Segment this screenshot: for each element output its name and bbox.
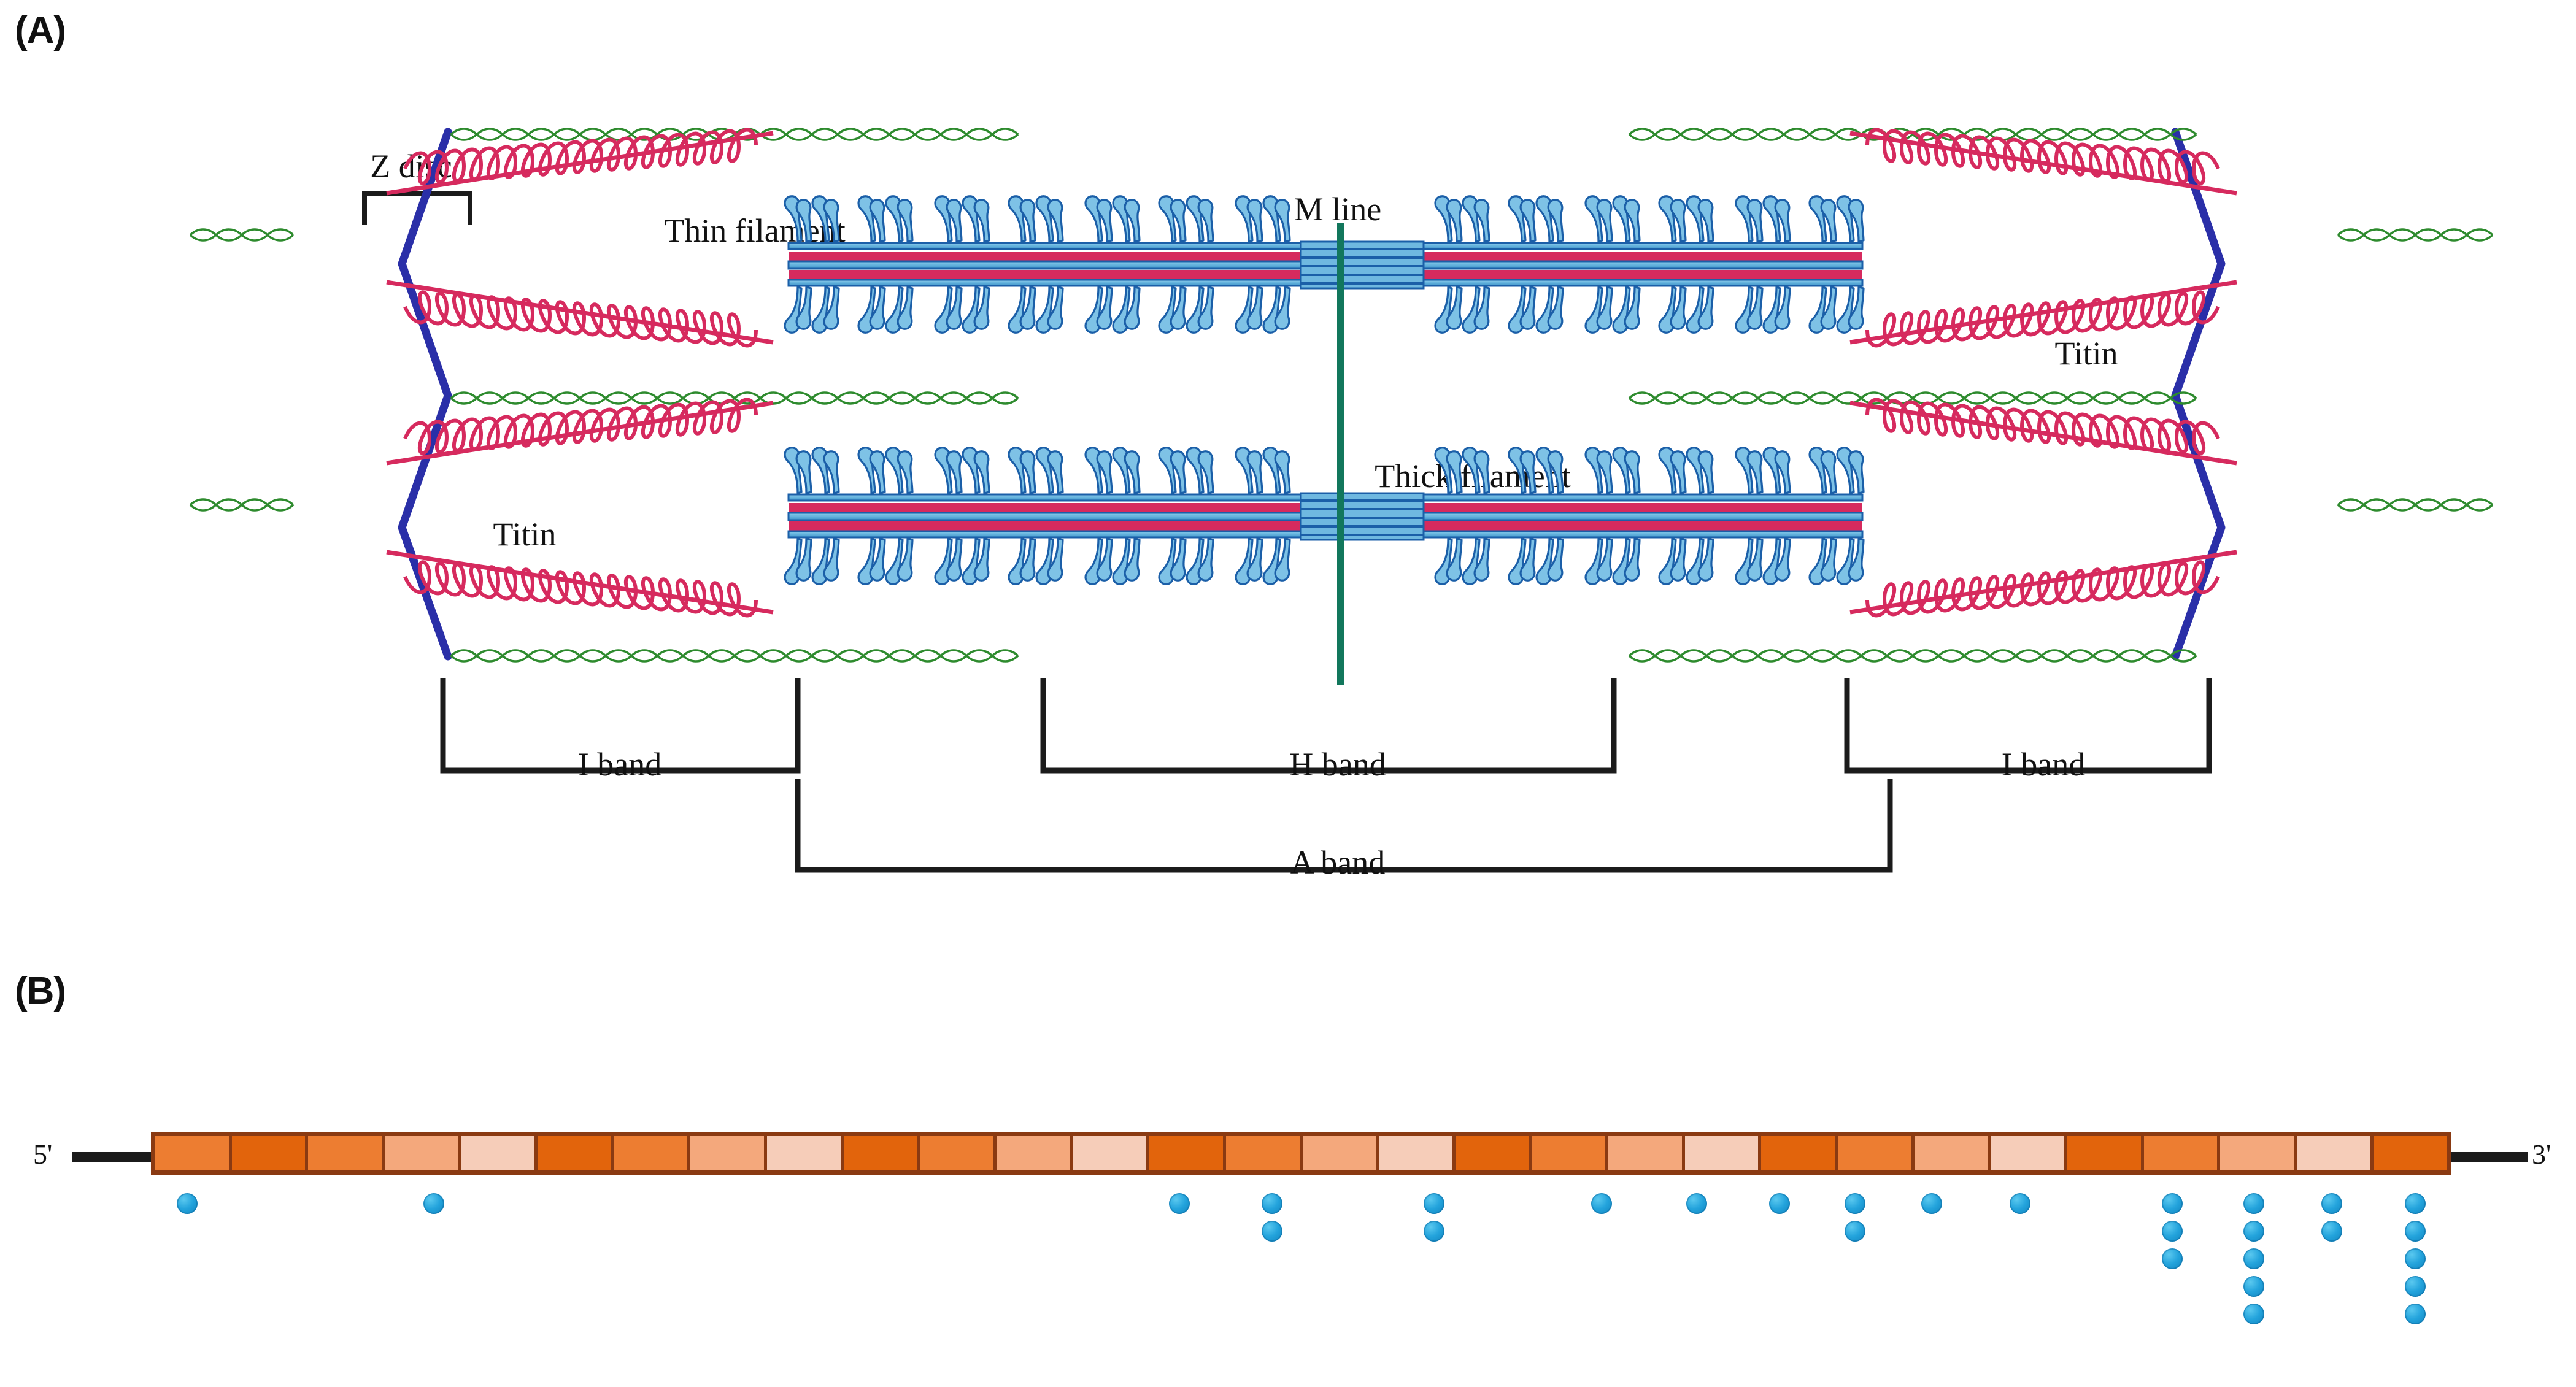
variant-marker[interactable]: [2243, 1248, 2264, 1269]
exon-bar: [151, 1132, 2451, 1175]
exon-block[interactable]: [1226, 1136, 1303, 1170]
thick-filament-bottom: [785, 448, 1864, 585]
exon-block[interactable]: [844, 1136, 920, 1170]
variant-marker[interactable]: [1845, 1221, 1865, 1242]
exon-block[interactable]: [767, 1136, 844, 1170]
variant-marker[interactable]: [1262, 1221, 1282, 1242]
variant-marker[interactable]: [2405, 1221, 2426, 1242]
variant-marker[interactable]: [2405, 1276, 2426, 1297]
variant-marker[interactable]: [1769, 1193, 1790, 1214]
variant-marker[interactable]: [1262, 1193, 1282, 1214]
exon-block[interactable]: [1761, 1136, 1838, 1170]
variant-marker[interactable]: [1591, 1193, 1612, 1214]
exon-block[interactable]: [1149, 1136, 1226, 1170]
exon-block[interactable]: [385, 1136, 461, 1170]
exon-block[interactable]: [997, 1136, 1073, 1170]
exon-block[interactable]: [1379, 1136, 1456, 1170]
variant-marker[interactable]: [1424, 1221, 1444, 1242]
z-disc-right: [2175, 132, 2221, 656]
variant-marker[interactable]: [2162, 1193, 2183, 1214]
exon-block[interactable]: [2067, 1136, 2144, 1170]
label-a-band: A band: [1290, 843, 1386, 882]
exon-block[interactable]: [308, 1136, 385, 1170]
variant-marker[interactable]: [1169, 1193, 1190, 1214]
variant-marker[interactable]: [2321, 1193, 2342, 1214]
variant-marker[interactable]: [1845, 1193, 1865, 1214]
label-m-line: M line: [1294, 190, 1382, 228]
exon-block[interactable]: [155, 1136, 232, 1170]
label-h-band: H band: [1289, 745, 1386, 783]
label-three-prime: 3': [2532, 1138, 2551, 1170]
band-brackets: [0, 675, 2576, 883]
panel-a-letter: (A): [15, 9, 66, 52]
variant-marker[interactable]: [177, 1193, 198, 1214]
exon-block[interactable]: [1073, 1136, 1150, 1170]
variant-marker[interactable]: [2243, 1221, 2264, 1242]
variant-marker[interactable]: [2405, 1193, 2426, 1214]
utr-line-five-prime: [72, 1152, 152, 1162]
label-i-band-right: I band: [2002, 745, 2085, 783]
label-i-band-left: I band: [578, 745, 661, 783]
variant-marker[interactable]: [2243, 1193, 2264, 1214]
exon-block[interactable]: [2374, 1136, 2447, 1170]
label-five-prime: 5': [33, 1138, 52, 1170]
variant-marker[interactable]: [1424, 1193, 1444, 1214]
exon-block[interactable]: [2297, 1136, 2374, 1170]
variant-marker[interactable]: [2405, 1304, 2426, 1324]
exon-block[interactable]: [920, 1136, 997, 1170]
exon-block[interactable]: [1532, 1136, 1609, 1170]
exon-block[interactable]: [538, 1136, 614, 1170]
variant-marker[interactable]: [1921, 1193, 1942, 1214]
variant-marker[interactable]: [2162, 1248, 2183, 1269]
thin-filament-actin: [190, 229, 293, 510]
variant-marker[interactable]: [2243, 1276, 2264, 1297]
panel-b-letter: (B): [15, 969, 66, 1013]
variant-marker[interactable]: [2405, 1248, 2426, 1269]
exon-block[interactable]: [1456, 1136, 1532, 1170]
variant-marker[interactable]: [2010, 1193, 2030, 1214]
utr-line-three-prime: [2448, 1152, 2528, 1162]
exon-block[interactable]: [1915, 1136, 1991, 1170]
exon-block[interactable]: [614, 1136, 691, 1170]
variant-marker[interactable]: [2243, 1304, 2264, 1324]
exon-block[interactable]: [1991, 1136, 2067, 1170]
exon-block[interactable]: [1608, 1136, 1685, 1170]
exon-block[interactable]: [1685, 1136, 1762, 1170]
sarcomere-diagram: [0, 233, 2576, 656]
variant-marker[interactable]: [2321, 1221, 2342, 1242]
exon-block[interactable]: [1838, 1136, 1915, 1170]
exon-block[interactable]: [232, 1136, 309, 1170]
variant-marker[interactable]: [2162, 1221, 2183, 1242]
variant-marker[interactable]: [1686, 1193, 1707, 1214]
exon-block[interactable]: [1303, 1136, 1379, 1170]
exon-block[interactable]: [461, 1136, 538, 1170]
exon-block[interactable]: [2220, 1136, 2297, 1170]
exon-block[interactable]: [2144, 1136, 2221, 1170]
exon-block[interactable]: [690, 1136, 767, 1170]
variant-marker[interactable]: [423, 1193, 444, 1214]
